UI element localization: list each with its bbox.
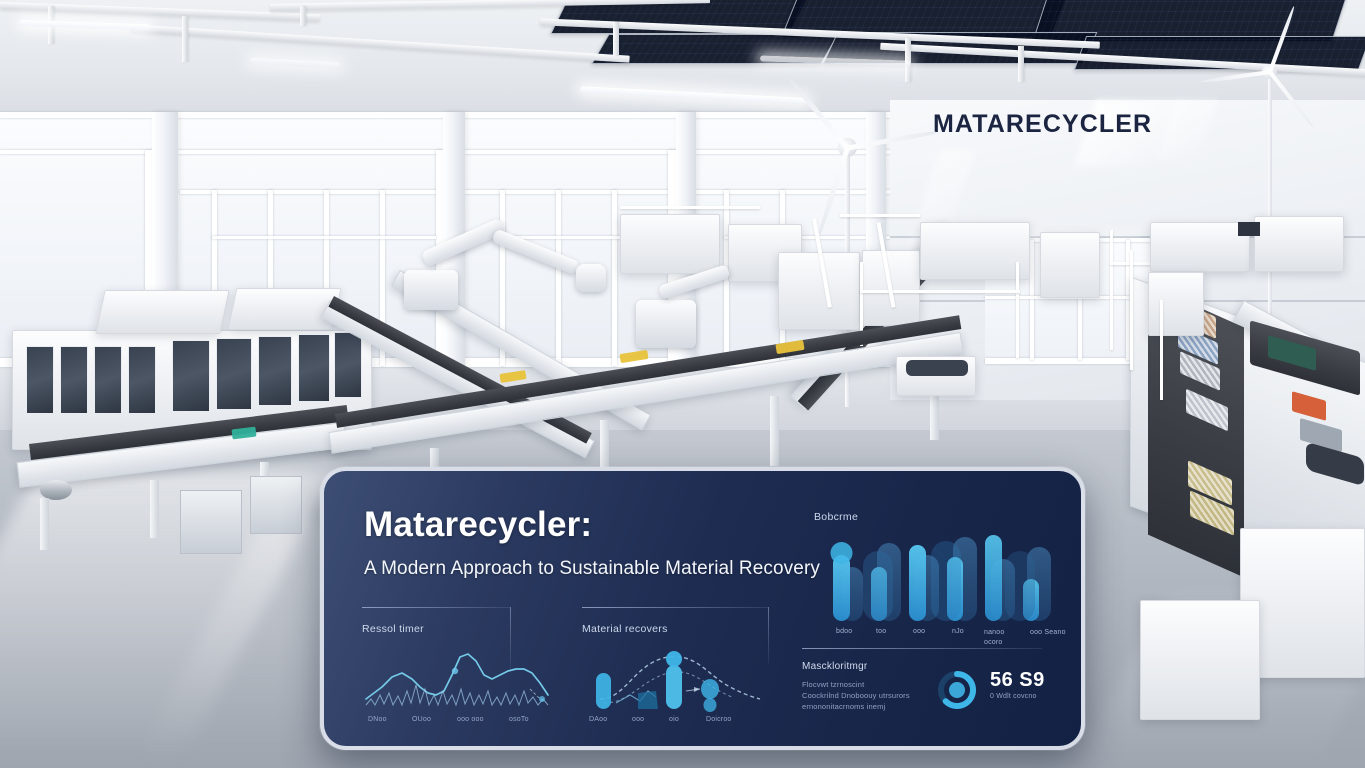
donut-gauge: [934, 667, 980, 713]
safety-railing: [1160, 300, 1163, 400]
conveyor-leg: [770, 396, 779, 466]
axis-label: nanoo ocoro: [984, 628, 1024, 648]
window-mullion: [180, 190, 900, 194]
stats-body-line: Flocvwt tzrnoscint: [802, 680, 864, 691]
window-mullion: [556, 190, 561, 366]
stats-body-line: ernononitacrnoms inemj: [802, 702, 885, 713]
sorting-machine-hood: [95, 290, 229, 334]
sorting-module-right: [1254, 216, 1344, 272]
axis-label: nJo: [952, 628, 964, 635]
axis-label: oio: [669, 716, 679, 723]
left-chart-label: Ressol timer: [362, 623, 424, 635]
stats-body-line: Coockrilnd Dnoboouy utrsurors: [802, 691, 910, 702]
process-module-center: [620, 214, 720, 274]
window-mullion: [1030, 240, 1034, 360]
big-stat-value: 56 S9: [990, 669, 1045, 692]
process-module-center: [778, 252, 860, 330]
process-module-center: [920, 222, 1030, 280]
top-right-bar-chart: [819, 529, 1069, 621]
page-title: Matarecycler:: [364, 505, 592, 545]
machine-glass-panel: [216, 338, 252, 410]
section-divider: [802, 648, 1042, 649]
panel-content: Matarecycler: A Modern Approach to Susta…: [324, 471, 1081, 746]
inspection-window: [1238, 222, 1260, 236]
overlay-info-panel[interactable]: Matarecycler: A Modern Approach to Susta…: [320, 467, 1085, 750]
sorting-module-right: [1148, 272, 1204, 336]
axis-label: osoTo: [509, 716, 529, 723]
wall-brand-text: MATARECYCLER: [933, 110, 1152, 139]
window-mullion: [612, 190, 617, 366]
conveyor-leg: [150, 480, 159, 538]
page-subtitle: A Modern Approach to Sustainable Materia…: [364, 558, 820, 580]
axis-label: ooo: [913, 628, 925, 635]
safety-railing: [620, 206, 760, 209]
machine-glass-panel: [334, 332, 362, 398]
left-line-chart: [362, 649, 552, 709]
big-stat-caption: 0 Wdlt covcno: [990, 693, 1037, 700]
robot-arm-base: [636, 300, 696, 348]
machine-glass-panel: [298, 334, 330, 402]
window-mullion: [212, 236, 436, 239]
process-module-center: [1040, 232, 1100, 298]
mid-mixed-chart: [582, 647, 772, 711]
safety-railing: [860, 290, 1020, 293]
top-chart-label: Bobcrme: [814, 511, 858, 523]
axis-label: ooo Seano: [1030, 628, 1068, 638]
robot-arm-base: [404, 270, 458, 310]
axis-label: ooo: [632, 716, 644, 723]
machine-glass-panel: [258, 336, 292, 406]
section-divider: [582, 607, 768, 608]
cabinet-right: [1140, 600, 1260, 720]
axis-label: OUoo: [412, 716, 431, 723]
axis-label: ooo ooo: [457, 716, 484, 723]
output-bin: [180, 490, 242, 554]
ceiling-column: [182, 16, 188, 62]
ceiling-column: [300, 6, 306, 26]
output-bin: [250, 476, 302, 534]
axis-label: too: [876, 628, 886, 635]
sorting-module-right: [1150, 222, 1250, 272]
ceiling-column: [613, 22, 619, 56]
machine-glass-panel: [60, 346, 88, 414]
mid-chart-label: Material recovers: [582, 623, 668, 635]
safety-railing: [1130, 250, 1133, 370]
factory-scene: MATARECYCLER: [0, 0, 1365, 768]
axis-label: DNoo: [368, 716, 387, 723]
safety-railing: [1110, 230, 1113, 350]
machine-glass-panel: [26, 346, 54, 414]
safety-railing: [1016, 262, 1019, 358]
machine-glass-panel: [128, 346, 156, 414]
axis-label: bdoo: [836, 628, 852, 635]
axis-label: Doicroo: [706, 716, 732, 723]
ceiling-column: [1018, 46, 1024, 82]
conveyor-leg: [40, 498, 49, 550]
axis-label: DAoo: [589, 716, 607, 723]
stats-heading: Masckloritmgr: [802, 661, 867, 672]
material-pile: [906, 360, 968, 376]
robot-arm-gripper: [576, 264, 606, 292]
conveyor-roller: [40, 480, 72, 500]
safety-railing: [840, 214, 920, 217]
machine-glass-panel: [94, 346, 122, 414]
machine-glass-panel: [172, 340, 210, 412]
section-divider: [362, 607, 510, 608]
